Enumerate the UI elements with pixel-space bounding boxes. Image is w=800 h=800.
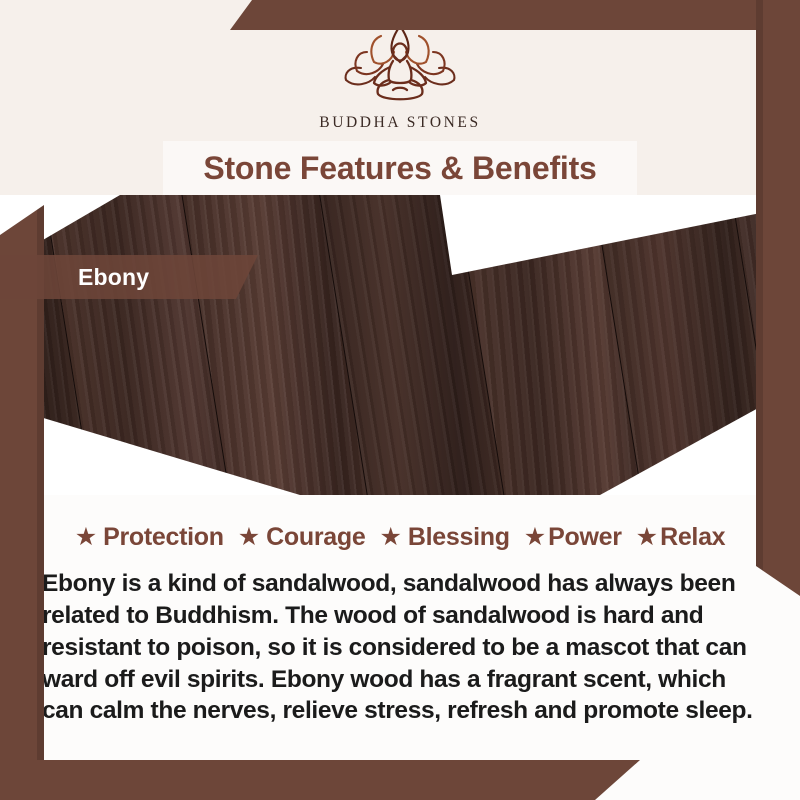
product-label-text: Ebony [78,264,149,291]
title-band: Stone Features & Benefits [163,141,637,195]
benefit-label: Courage [266,523,365,552]
star-icon: ★ [379,525,401,550]
star-icon: ★ [75,525,97,550]
product-label-badge: Ebony [0,255,258,299]
star-icon: ★ [636,525,658,550]
frame-accent-bottom [0,760,640,800]
brand-logo: BUDDHA STONES [0,22,800,132]
benefits-list: ★ Protection ★ Courage ★ Blessing ★ Powe… [0,495,800,552]
lotus-meditation-icon [341,22,459,110]
hero-image [0,195,800,495]
stone-features-card: BUDDHA STONES Stone Features & Benefits [0,0,800,800]
benefit-item-relax: ★ Relax [636,523,726,552]
star-icon: ★ [238,525,260,550]
benefit-item-protection: ★ Protection [75,523,224,552]
benefit-label: Blessing [408,523,510,552]
frame-accent-right [756,0,800,596]
benefit-item-courage: ★ Courage [238,523,366,552]
page-title: Stone Features & Benefits [203,150,596,187]
frame-accent-top-right [230,0,800,30]
content-section: ★ Protection ★ Courage ★ Blessing ★ Powe… [0,495,800,800]
star-icon: ★ [524,525,546,550]
benefit-label: Relax [660,523,725,552]
benefit-item-blessing: ★ Blessing [379,523,509,552]
benefit-item-power: ★ Power [524,523,622,552]
benefit-label: Power [548,523,622,552]
brand-name: BUDDHA STONES [319,114,480,132]
benefit-label: Protection [103,523,224,552]
description-text: Ebony is a kind of sandalwood, sandalwoo… [42,568,758,727]
